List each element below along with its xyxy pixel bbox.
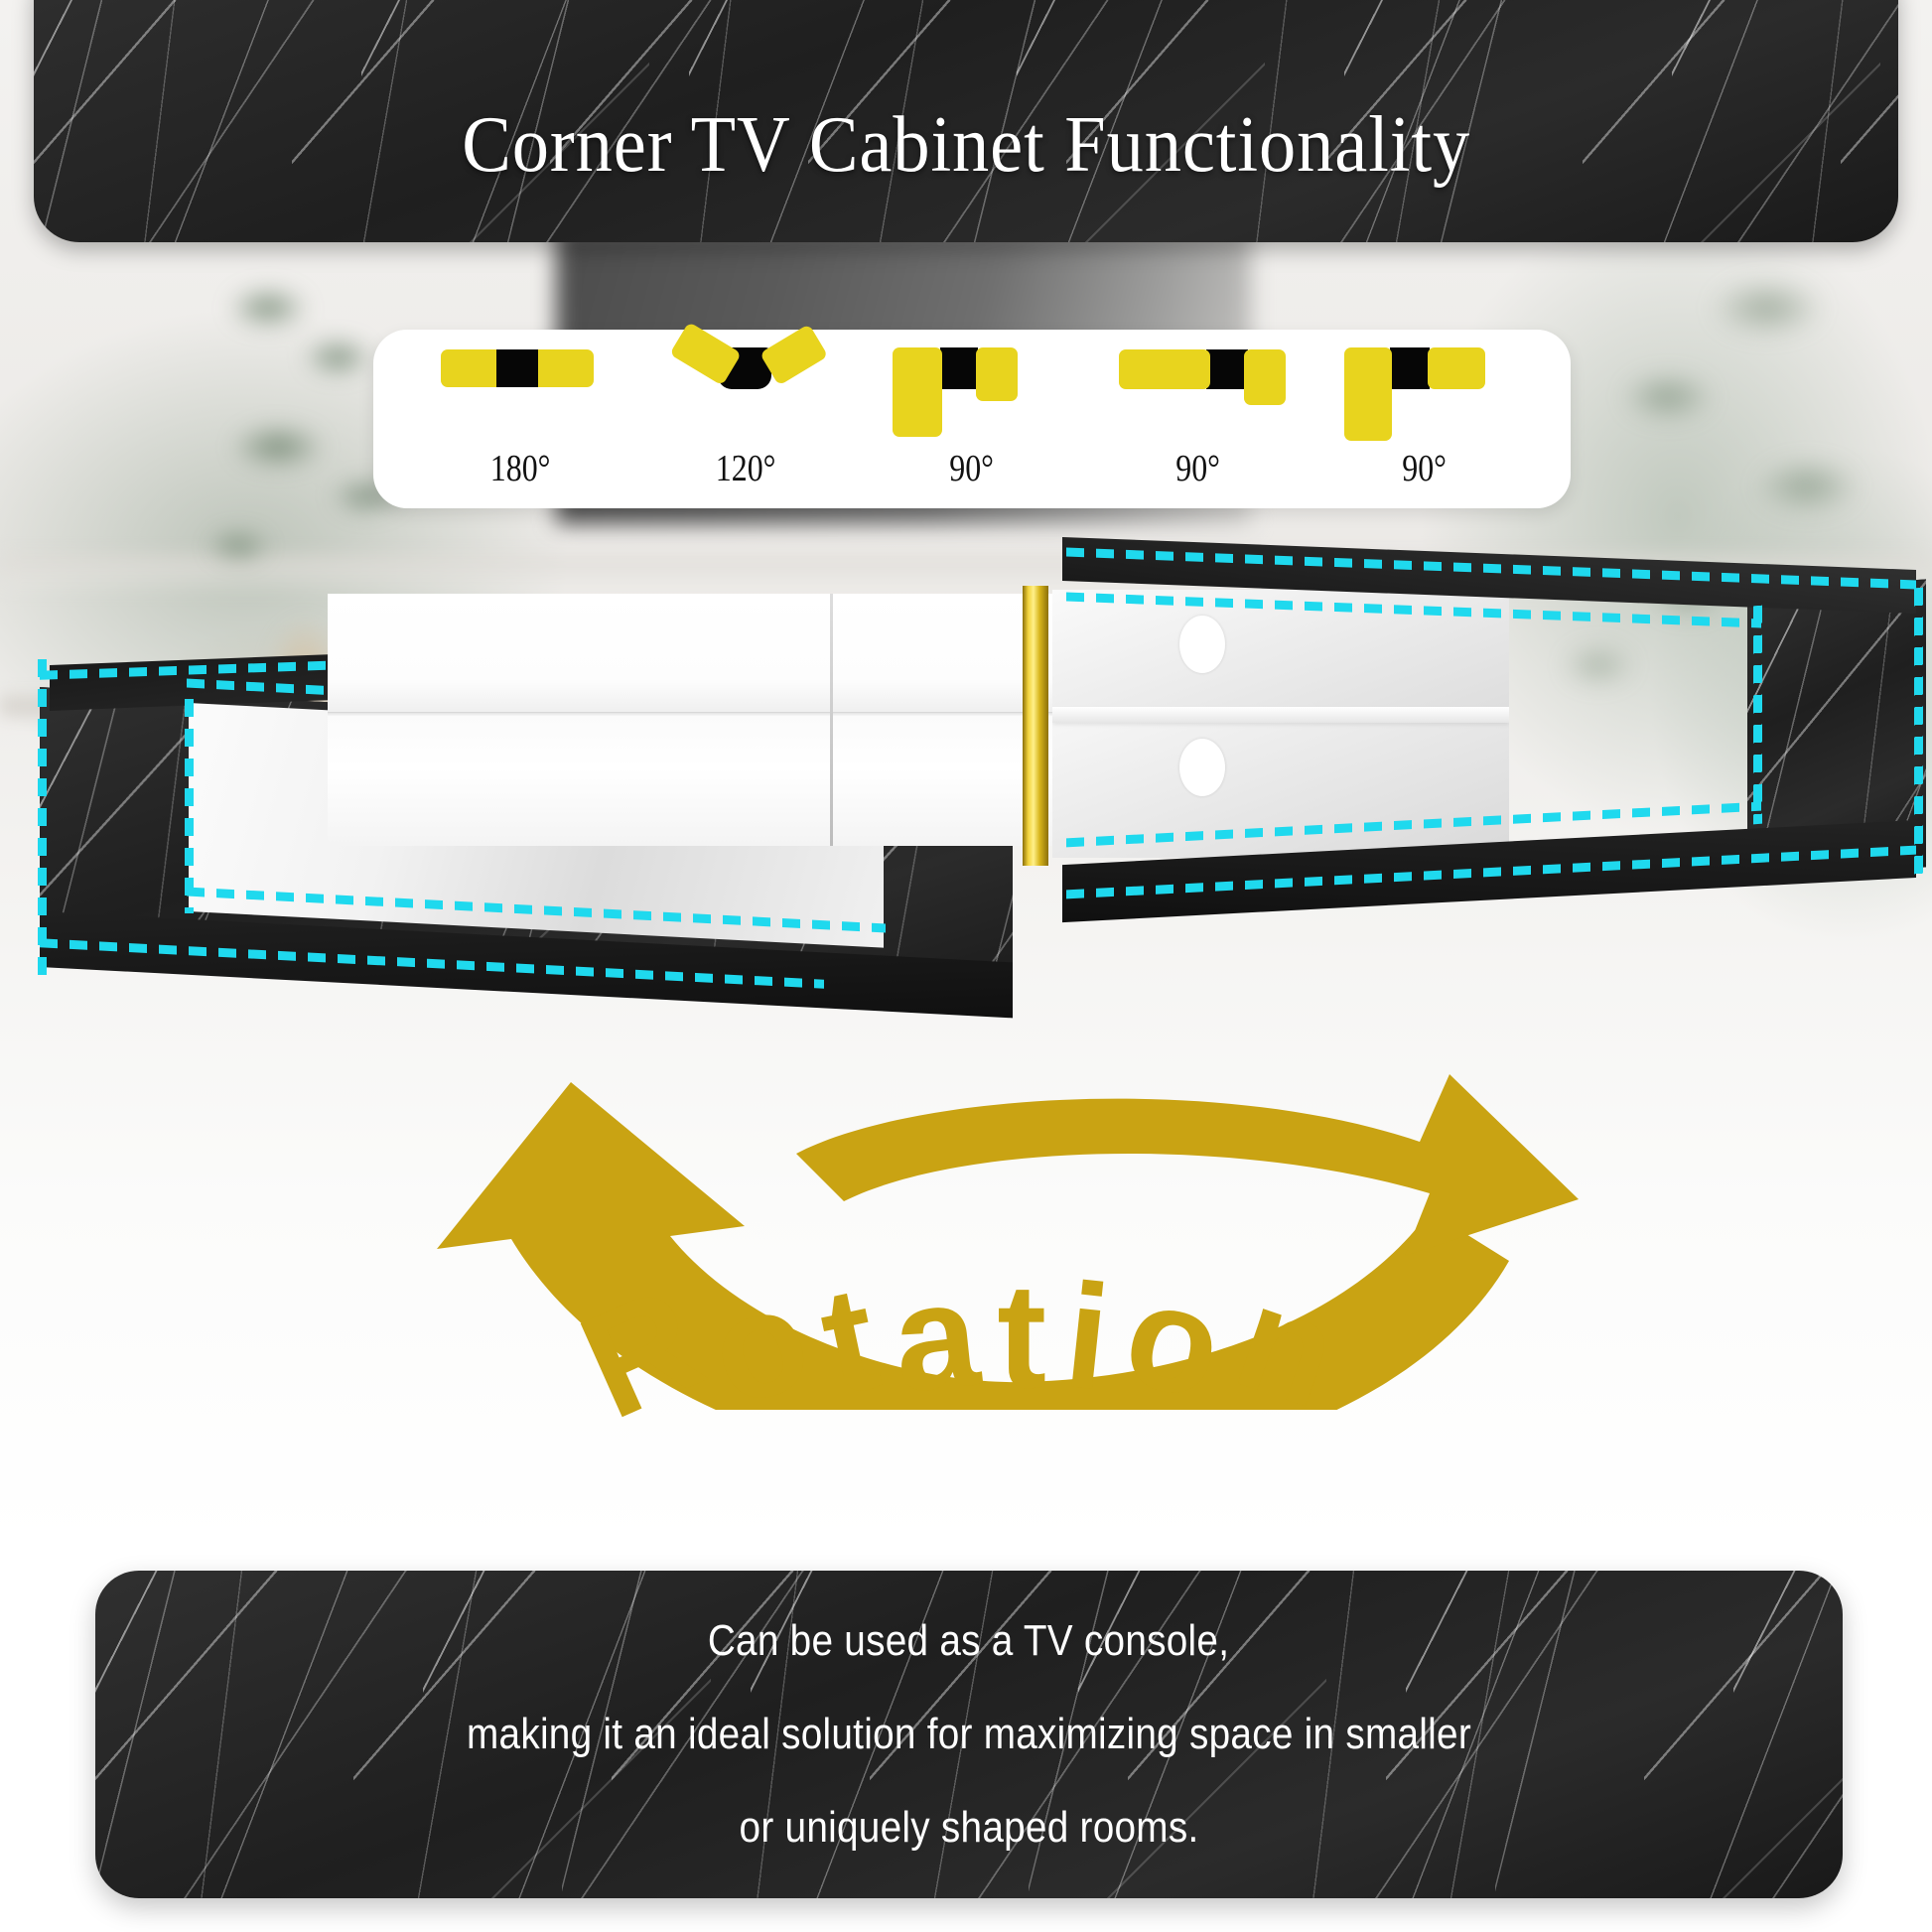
angle-label-2: 90° xyxy=(950,447,995,490)
angle-label-1: 120° xyxy=(716,447,776,490)
page-title: Corner TV Cabinet Functionality xyxy=(462,100,1470,191)
angle-label-3: 90° xyxy=(1175,447,1220,490)
drawer-lower[interactable] xyxy=(328,717,1062,846)
corner-tv-cabinet-illustration xyxy=(0,685,1932,1152)
angle-option-3[interactable]: 90° xyxy=(1085,330,1311,508)
angle-option-2[interactable]: 90° xyxy=(859,330,1085,508)
gold-hinge-strip xyxy=(1023,586,1048,866)
angle-label-4: 90° xyxy=(1402,447,1447,490)
title-banner: Corner TV Cabinet Functionality xyxy=(34,0,1898,242)
hinge-corner-90-b-icon xyxy=(1119,344,1278,439)
rotation-angle-panel: 180° 120° 90° 90° 90° xyxy=(373,330,1571,508)
angle-option-4[interactable]: 90° xyxy=(1311,330,1537,508)
caption-banner: Can be used as a TV console, making it a… xyxy=(95,1571,1843,1898)
angle-option-1[interactable]: 120° xyxy=(633,330,860,508)
drawer-upper[interactable] xyxy=(328,594,1062,713)
highlight-dash-right-side xyxy=(1914,588,1923,877)
center-drawer-unit xyxy=(328,594,1062,852)
hinge-corner-90-c-icon xyxy=(1344,344,1503,439)
caption-line-2: or uniquely shaped rooms. xyxy=(740,1803,1199,1853)
right-cabinet xyxy=(1052,570,1926,927)
hinge-open-120-icon xyxy=(666,344,825,439)
drawer-divider xyxy=(830,594,833,846)
angle-label-0: 180° xyxy=(489,447,550,490)
caption-line-0: Can be used as a TV console, xyxy=(708,1616,1229,1666)
caption-line-1: making it an ideal solution for maximizi… xyxy=(467,1710,1471,1759)
hinge-corner-90-a-icon xyxy=(893,344,1051,439)
highlight-dash-right-cavity-side xyxy=(1753,606,1762,825)
angle-option-0[interactable]: 180° xyxy=(407,330,633,508)
highlight-dash-left-cavity-side xyxy=(185,699,194,913)
hinge-flat-180-icon xyxy=(441,344,600,439)
rotation-word: Rotation xyxy=(328,1261,1608,1559)
